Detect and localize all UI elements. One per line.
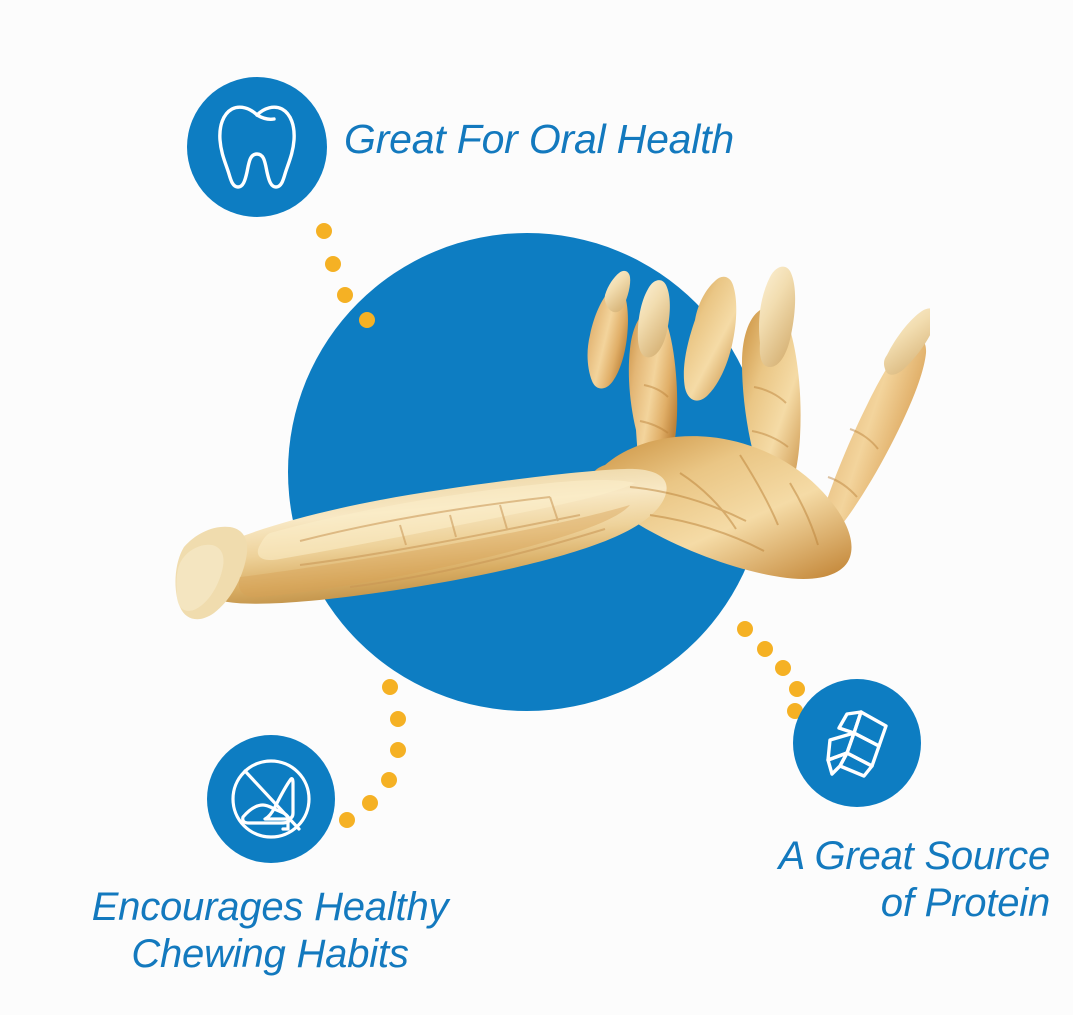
connector-dot [325,256,341,272]
connector-dot [789,681,805,697]
connector-dot [390,711,406,727]
hero-background-circle [288,233,766,711]
product-cut-end [175,527,247,620]
connector-dot [390,742,406,758]
benefit-icon-chewing-habits[interactable] [207,735,335,863]
connector-dot [362,795,378,811]
infographic-canvas: Great For Oral Health Encourages Healthy… [0,0,1073,1015]
connector-dot [381,772,397,788]
connector-dot [339,812,355,828]
connector-dot [382,679,398,695]
benefit-label-protein: A Great Source of Protein [660,833,1050,927]
product-claw-2 [759,267,795,367]
connector-dot [337,287,353,303]
benefit-icon-oral-health[interactable] [187,77,327,217]
connector-dot [316,223,332,239]
benefit-label-oral-health: Great For Oral Health [344,115,734,163]
product-cut-end-highlight [176,545,223,611]
benefit-icon-protein[interactable] [793,679,921,807]
product-claw-3 [884,308,930,374]
no-shoe-chewing-icon [225,753,317,845]
connector-dot [737,621,753,637]
connector-dot [757,641,773,657]
tooth-icon [214,102,300,192]
connector-dot [775,660,791,676]
benefit-label-chewing-habits: Encourages Healthy Chewing Habits [35,884,505,978]
product-toe-3 [815,337,926,539]
dna-icon [814,700,900,786]
